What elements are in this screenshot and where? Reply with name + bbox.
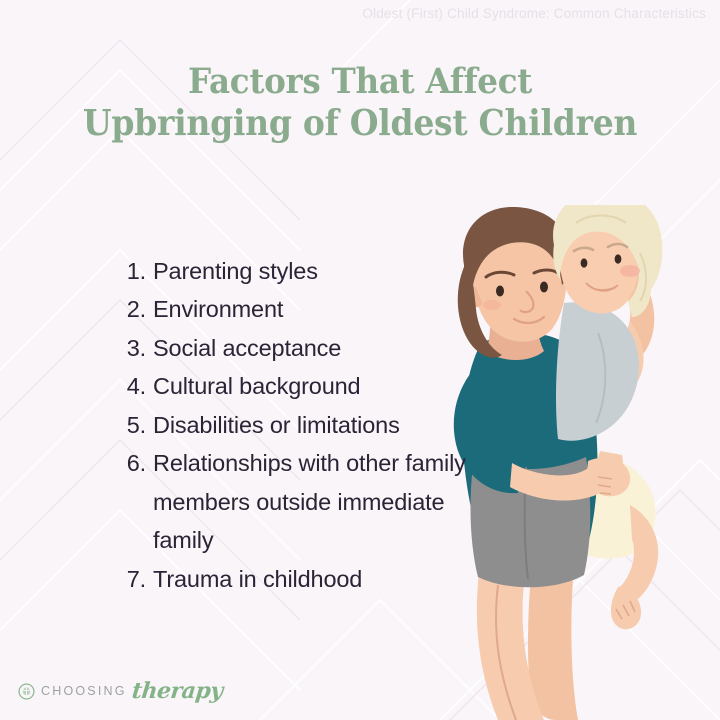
title-line-1: Factors That Affect (188, 61, 532, 102)
list-item-number: 5. (118, 406, 146, 445)
list-item-label: Social acceptance (153, 329, 468, 368)
list-item-number: 3. (118, 329, 146, 368)
choosing-therapy-logo[interactable]: CHOOSING therapy (18, 678, 222, 704)
page-title: Factors That Affect Upbringing of Oldest… (25, 62, 695, 144)
list-item: 2. Environment (118, 290, 468, 329)
list-item: 4. Cultural background (118, 367, 468, 406)
flower-badge-icon (18, 683, 35, 700)
logo-word-choosing: CHOOSING (41, 684, 127, 698)
list-item-label: Trauma in childhood (153, 560, 468, 599)
list-item-number: 1. (118, 252, 146, 291)
logo-word-therapy: therapy (130, 678, 223, 704)
list-item-number: 2. (118, 290, 146, 329)
infographic-canvas: Oldest (First) Child Syndrome: Common Ch… (0, 0, 720, 720)
list-item-label: Disabilities or limitations (153, 406, 468, 445)
list-item: 6. Relationships with other family membe… (118, 444, 468, 560)
list-item-label: Parenting styles (153, 252, 468, 291)
list-item-number: 6. (118, 444, 146, 483)
list-item-label: Environment (153, 290, 468, 329)
list-item: 7. Trauma in childhood (118, 560, 468, 599)
list-item: 5. Disabilities or limitations (118, 406, 468, 445)
header-kicker: Oldest (First) Child Syndrome: Common Ch… (362, 6, 706, 21)
factors-list: 1. Parenting styles 2. Environment 3. So… (78, 252, 468, 599)
list-item-number: 7. (118, 560, 146, 599)
list-item-number: 4. (118, 367, 146, 406)
list-item: 3. Social acceptance (118, 329, 468, 368)
list-item-label: Relationships with other family members … (153, 444, 468, 560)
title-line-2: Upbringing of Oldest Children (25, 103, 695, 144)
list-item: 1. Parenting styles (118, 252, 468, 291)
list-item-label: Cultural background (153, 367, 468, 406)
